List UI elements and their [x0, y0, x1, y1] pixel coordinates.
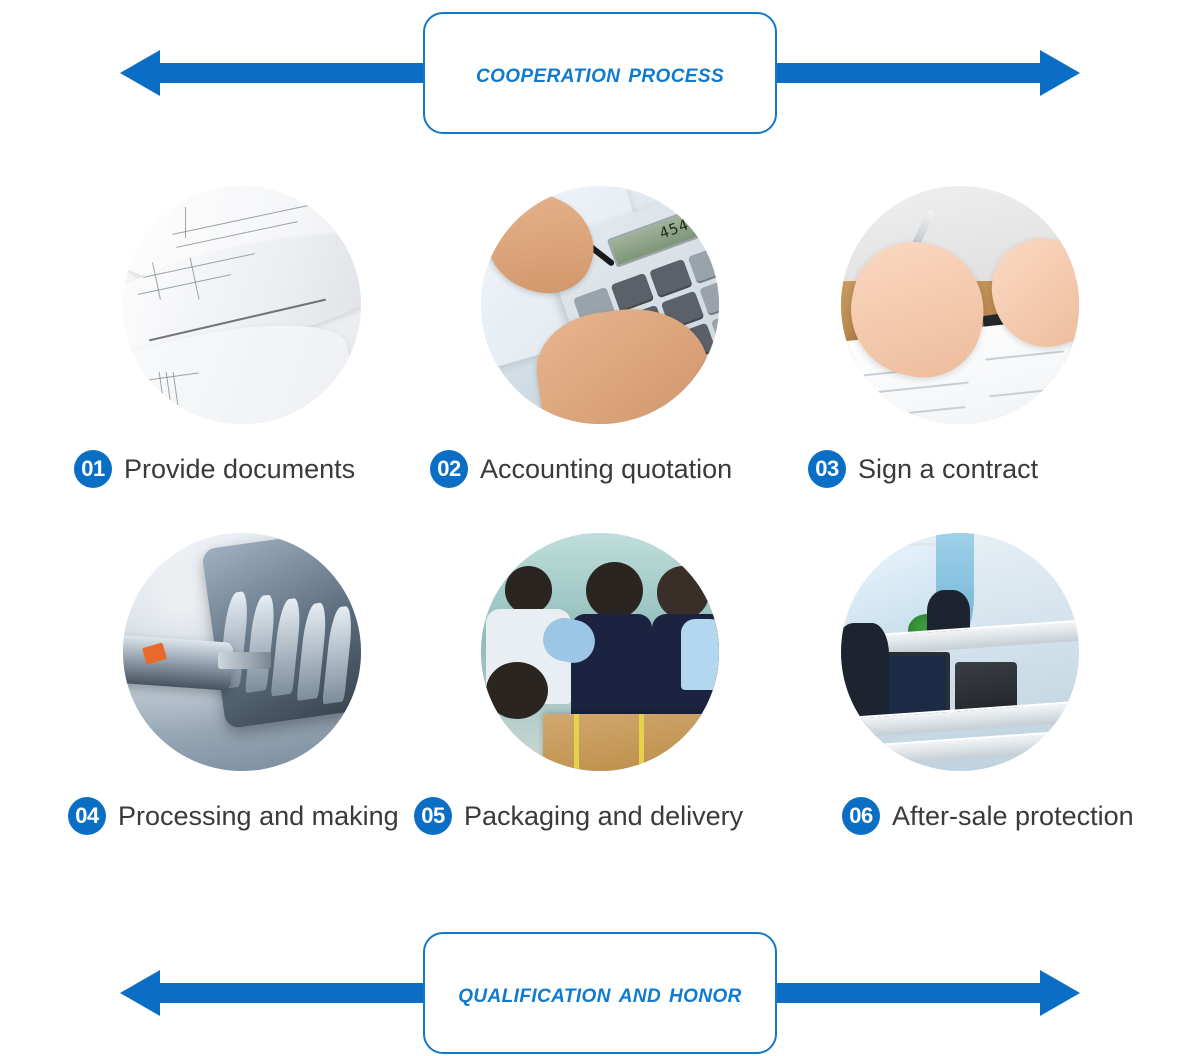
step-number-badge: 03	[808, 450, 846, 488]
process-step-02-caption: 02 Accounting quotation	[400, 450, 800, 488]
step-label: Provide documents	[124, 456, 355, 483]
process-step-05-caption: 05 Packaging and delivery	[400, 797, 800, 835]
top-banner: Cooperation process	[0, 8, 1200, 138]
step-number-badge: 01	[74, 450, 112, 488]
process-step-06[interactable]: 06 After-sale protection	[760, 525, 1160, 870]
step-number-badge: 04	[68, 797, 106, 835]
bottom-banner: Qualification and honor	[0, 928, 1200, 1056]
process-step-04[interactable]: 04 Processing and making	[42, 525, 442, 870]
process-step-06-caption: 06 After-sale protection	[760, 797, 1160, 835]
process-step-01[interactable]: 01 Provide documents	[42, 178, 442, 523]
signing-contract-photo	[841, 186, 1079, 424]
step-number-badge: 05	[414, 797, 452, 835]
step-label: Packaging and delivery	[464, 803, 743, 830]
office-support-team-photo	[841, 533, 1079, 771]
bottom-banner-box: Qualification and honor	[423, 932, 777, 1054]
step-number-badge: 02	[430, 450, 468, 488]
process-step-05[interactable]: 05 Packaging and delivery	[400, 525, 800, 870]
cooperation-process-page: Cooperation process	[0, 0, 1200, 1056]
section-title: Qualification and honor	[458, 978, 742, 1009]
step-label: After-sale protection	[892, 803, 1134, 830]
process-steps-row-2: 04 Processing and making	[0, 525, 1200, 870]
page-title: Cooperation process	[476, 58, 724, 89]
top-banner-box: Cooperation process	[423, 12, 777, 134]
process-steps-grid: 01 Provide documents 4543	[0, 178, 1200, 878]
step-label: Sign a contract	[858, 456, 1038, 483]
process-steps-row-1: 01 Provide documents 4543	[0, 178, 1200, 523]
hands-with-calculator-photo: 4543	[481, 186, 719, 424]
process-step-01-caption: 01 Provide documents	[42, 450, 442, 488]
process-step-04-caption: 04 Processing and making	[42, 797, 442, 835]
step-label: Accounting quotation	[480, 456, 732, 483]
packaging-workers-photo	[481, 533, 719, 771]
process-step-03-caption: 03 Sign a contract	[760, 450, 1160, 488]
step-label: Processing and making	[118, 803, 399, 830]
process-step-02[interactable]: 4543 02	[400, 178, 800, 523]
process-step-03[interactable]: 03 Sign a contract	[760, 178, 1160, 523]
cnc-machining-photo	[123, 533, 361, 771]
rolled-technical-drawings-photo	[123, 186, 361, 424]
step-number-badge: 06	[842, 797, 880, 835]
